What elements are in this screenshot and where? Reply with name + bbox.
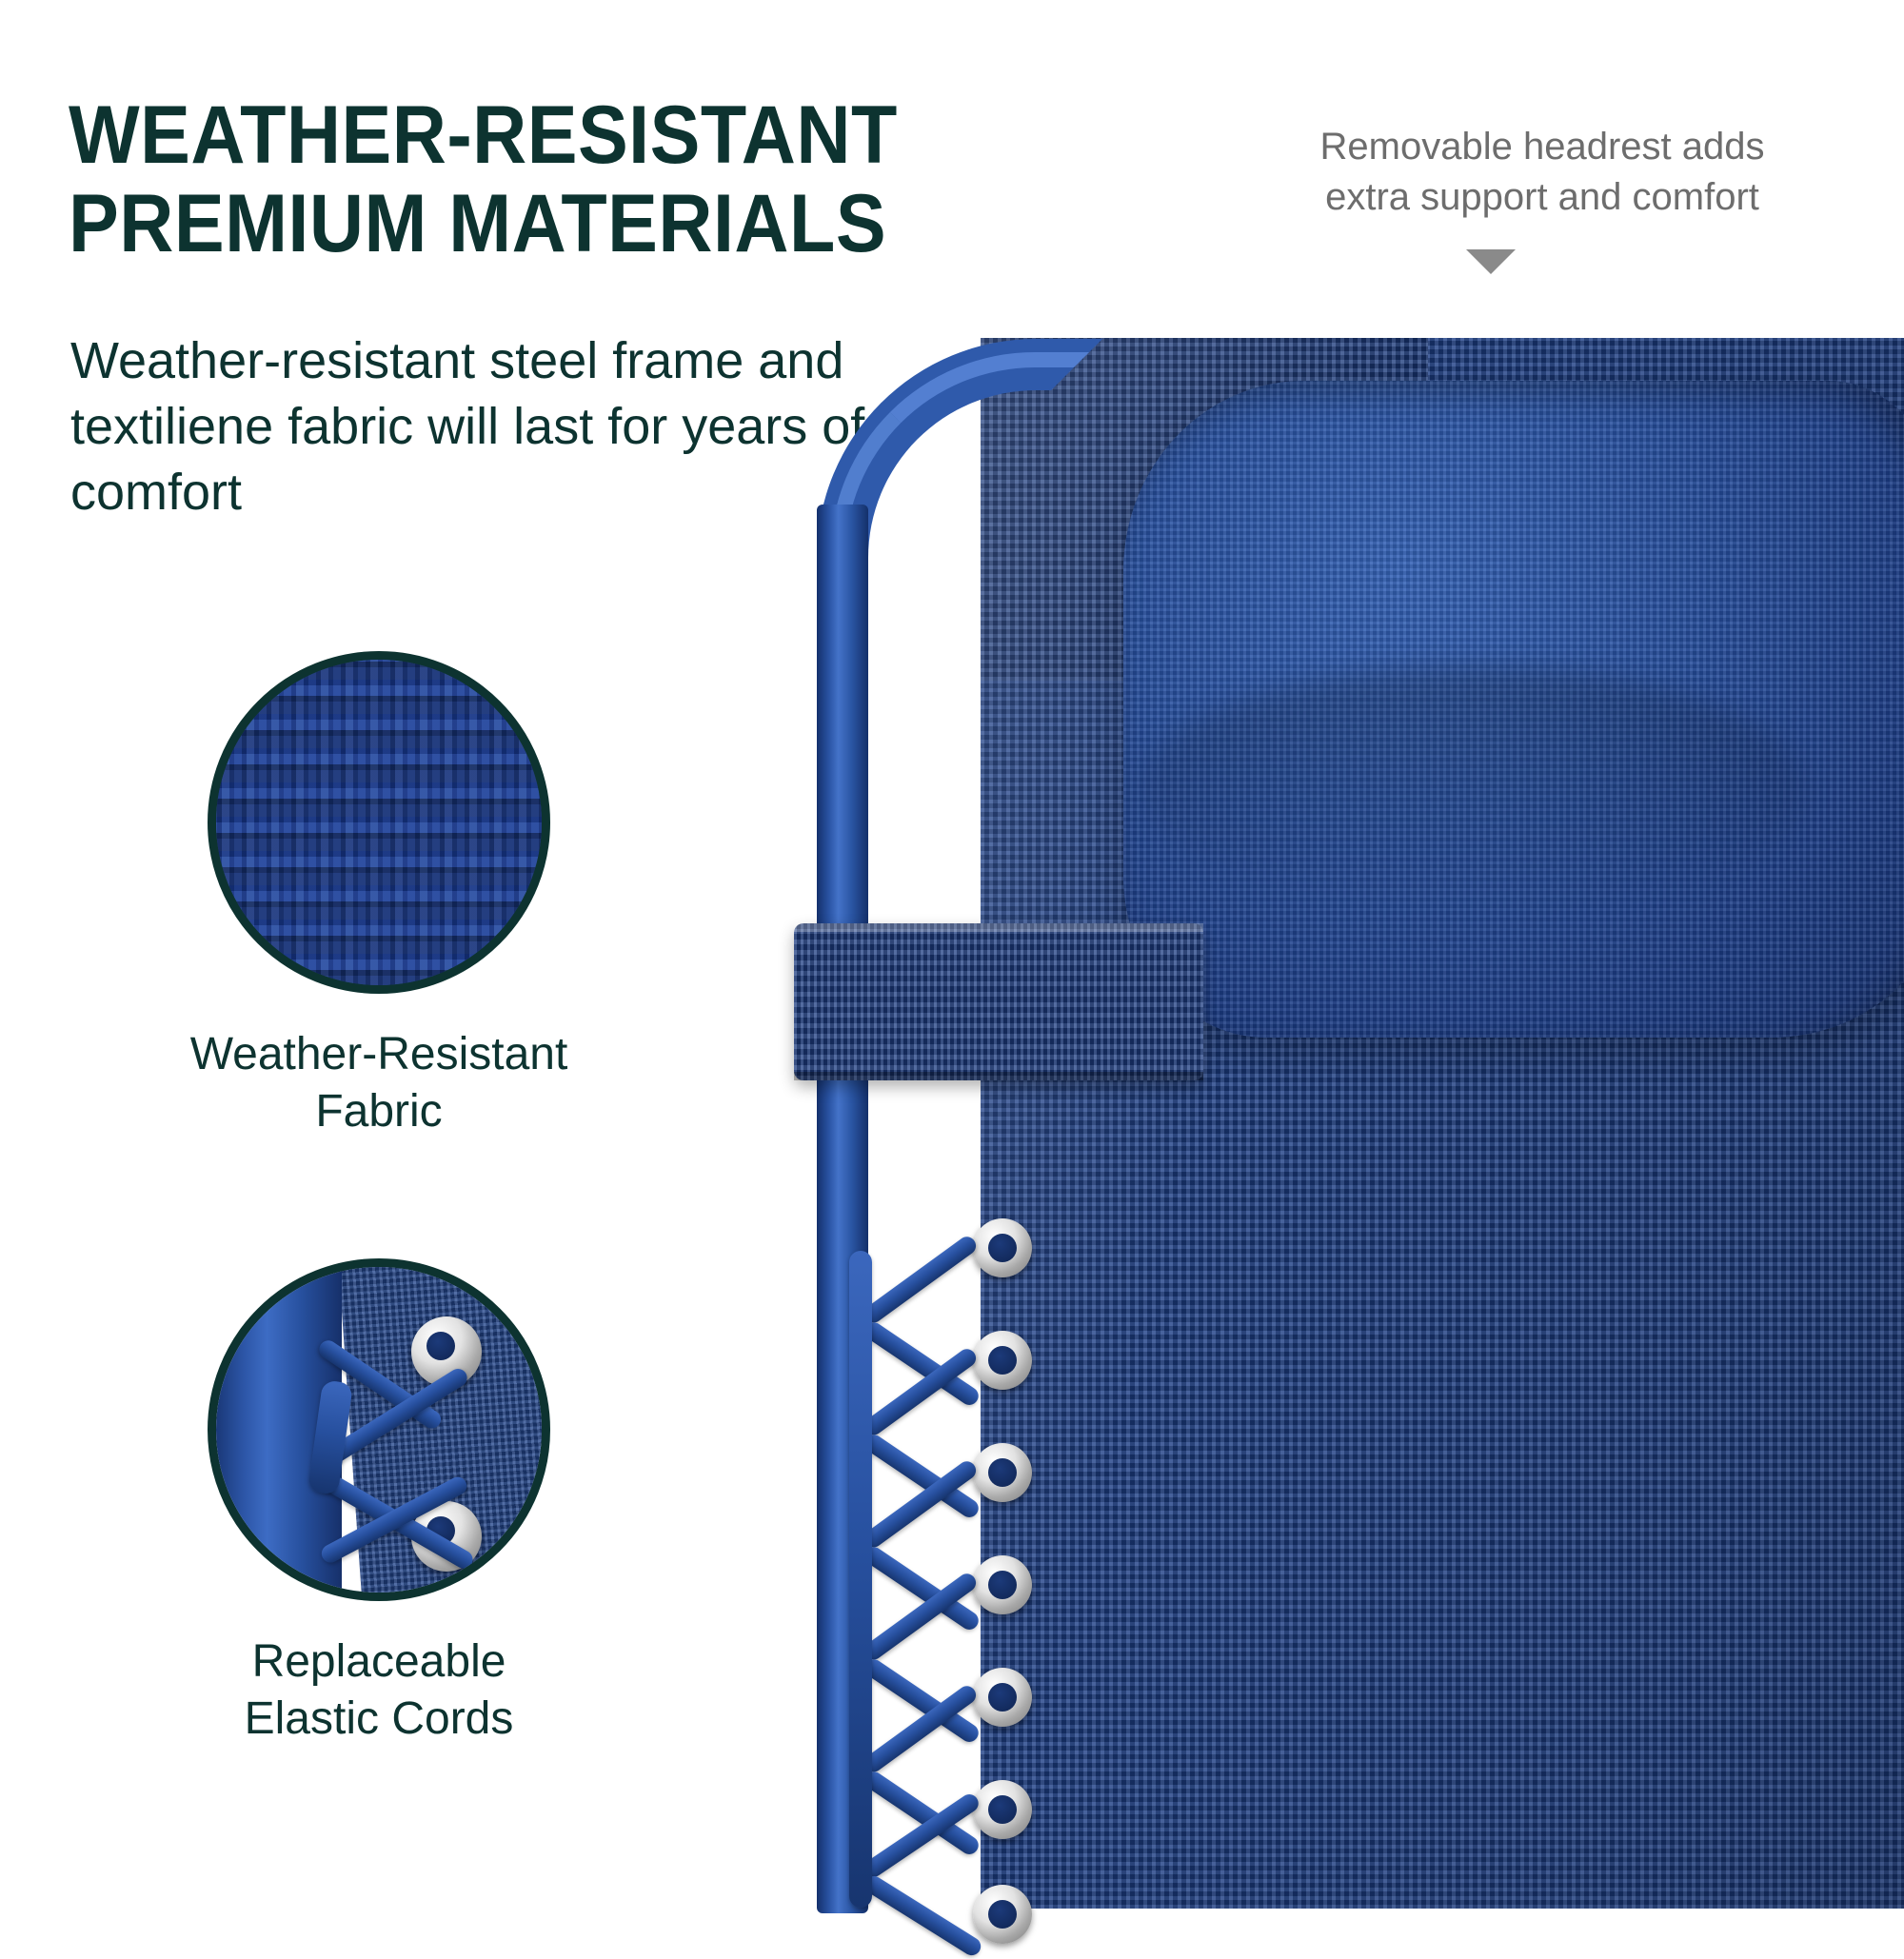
feature-label-cords-line-1: Replaceable	[112, 1633, 645, 1691]
headline-line-1: WEATHER-RESISTANT	[69, 91, 1032, 180]
velcro-strap-bottom-edge	[794, 1072, 1203, 1080]
grommet-7	[973, 1885, 1032, 1944]
grommet-3	[973, 1443, 1032, 1502]
feature-label-fabric-line-1: Weather-Resistant	[112, 1026, 645, 1083]
headline-line-2: PREMIUM MATERIALS	[69, 180, 1032, 268]
down-triangle-icon	[1466, 249, 1516, 274]
lacing-cord-spine	[849, 1251, 872, 1908]
fabric-swatch-circle	[208, 651, 550, 994]
lacing-cord-12	[862, 1872, 984, 1958]
product-photo	[838, 314, 1904, 1904]
subheading-text: Weather-resistant steel frame and textil…	[70, 328, 908, 525]
headrest-callout: Removable headrest adds extra support an…	[1209, 122, 1875, 223]
grommet-2	[973, 1331, 1032, 1390]
feature-weather-resistant-fabric: Weather-Resistant Fabric	[208, 651, 645, 1139]
steel-frame-highlight	[830, 352, 1089, 638]
feature-label-fabric-line-2: Fabric	[112, 1083, 645, 1140]
feature-label-cords-line-2: Elastic Cords	[112, 1691, 645, 1748]
grommet-5	[973, 1668, 1032, 1727]
elastic-cord-closeup	[216, 1267, 542, 1593]
lacing-cord-1	[861, 1234, 979, 1327]
velcro-strap	[794, 923, 1203, 1080]
velcro-strap-top-edge	[794, 923, 1203, 932]
callout-line-1: Removable headrest adds	[1209, 122, 1875, 172]
headrest-crease-shadow	[1139, 666, 1805, 914]
grommet-6	[973, 1780, 1032, 1839]
feature-label-cords: Replaceable Elastic Cords	[112, 1633, 645, 1747]
cords-swatch-circle	[208, 1258, 550, 1601]
feature-replaceable-elastic-cords: Replaceable Elastic Cords	[208, 1258, 645, 1747]
callout-line-2: extra support and comfort	[1209, 172, 1875, 223]
page-title: WEATHER-RESISTANT PREMIUM MATERIALS	[69, 91, 1032, 268]
textilene-weave-texture	[208, 651, 550, 994]
grommet-1	[973, 1218, 1032, 1277]
elastic-lacing-assembly	[830, 1218, 1068, 1923]
feature-label-fabric: Weather-Resistant Fabric	[112, 1026, 645, 1139]
removable-headrest-pillow	[1123, 381, 1904, 1038]
grommet-4	[973, 1555, 1032, 1614]
